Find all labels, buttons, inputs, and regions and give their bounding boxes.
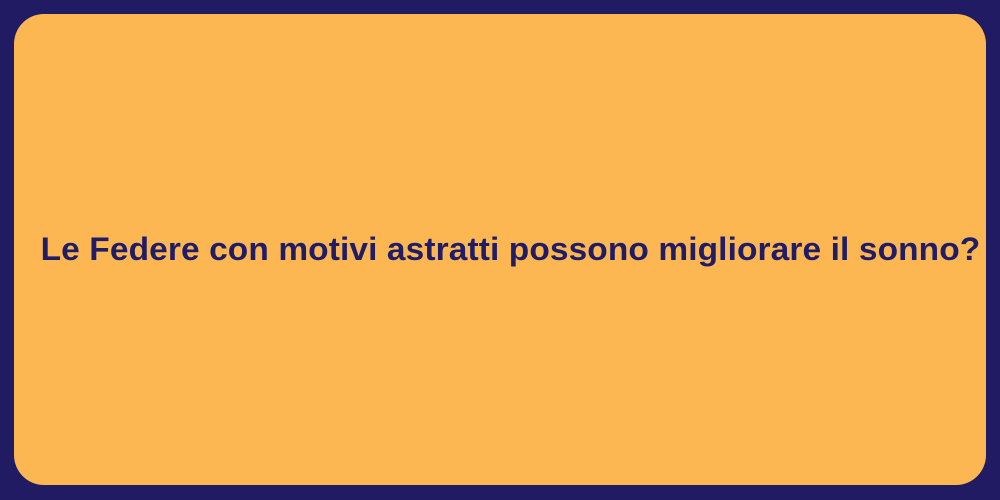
banner-headline: Le Federe con motivi astratti possono mi… — [41, 229, 960, 270]
headline-container: Le Federe con motivi astratti possono mi… — [14, 229, 986, 270]
banner-panel: Le Federe con motivi astratti possono mi… — [14, 14, 986, 485]
banner-frame: Le Federe con motivi astratti possono mi… — [0, 0, 1000, 500]
